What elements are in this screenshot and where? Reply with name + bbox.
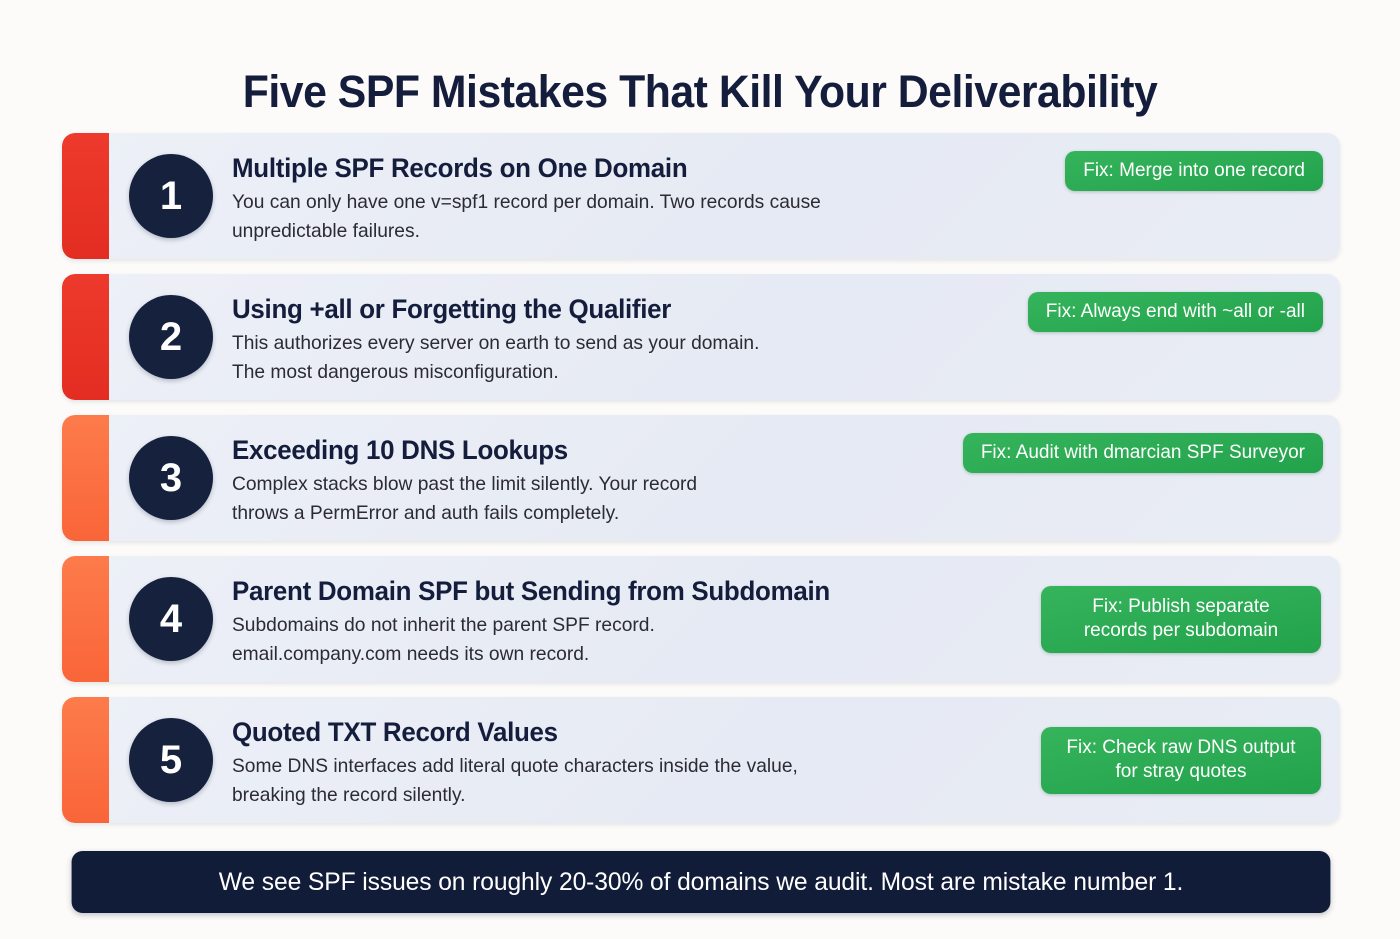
number-badge: 2 xyxy=(129,295,213,379)
fix-badge: Fix: Merge into one record xyxy=(1065,151,1323,191)
fix-badge: Fix: Always end with ~all or -all xyxy=(1028,292,1323,332)
number-badge: 3 xyxy=(129,436,213,520)
fix-badge: Fix: Audit with dmarcian SPF Surveyor xyxy=(963,433,1323,473)
footer-banner: We see SPF issues on roughly 20-30% of d… xyxy=(72,851,1331,913)
page-title: Five SPF Mistakes That Kill Your Deliver… xyxy=(35,66,1365,118)
mistake-card: 1 Multiple SPF Records on One Domain You… xyxy=(62,133,1340,259)
mistake-card: 4 Parent Domain SPF but Sending from Sub… xyxy=(62,556,1340,682)
number-badge: 4 xyxy=(129,577,213,661)
number-badge: 5 xyxy=(129,718,213,802)
accent-bar xyxy=(62,697,109,823)
accent-bar xyxy=(62,133,109,259)
fix-badge: Fix: Publish separate records per subdom… xyxy=(1041,586,1321,653)
accent-bar xyxy=(62,415,109,541)
card-description: You can only have one v=spf1 record per … xyxy=(232,188,1323,245)
mistake-card: 5 Quoted TXT Record Values Some DNS inte… xyxy=(62,697,1340,823)
mistake-card: 3 Exceeding 10 DNS Lookups Complex stack… xyxy=(62,415,1340,541)
infographic-page: Five SPF Mistakes That Kill Your Deliver… xyxy=(0,0,1400,939)
accent-bar xyxy=(62,556,109,682)
mistake-card: 2 Using +all or Forgetting the Qualifier… xyxy=(62,274,1340,400)
accent-bar xyxy=(62,274,109,400)
mistake-card-list: 1 Multiple SPF Records on One Domain You… xyxy=(62,133,1340,838)
fix-badge: Fix: Check raw DNS output for stray quot… xyxy=(1041,727,1321,794)
card-description: This authorizes every server on earth to… xyxy=(232,329,1323,386)
number-badge: 1 xyxy=(129,154,213,238)
card-description: Complex stacks blow past the limit silen… xyxy=(232,470,1323,527)
